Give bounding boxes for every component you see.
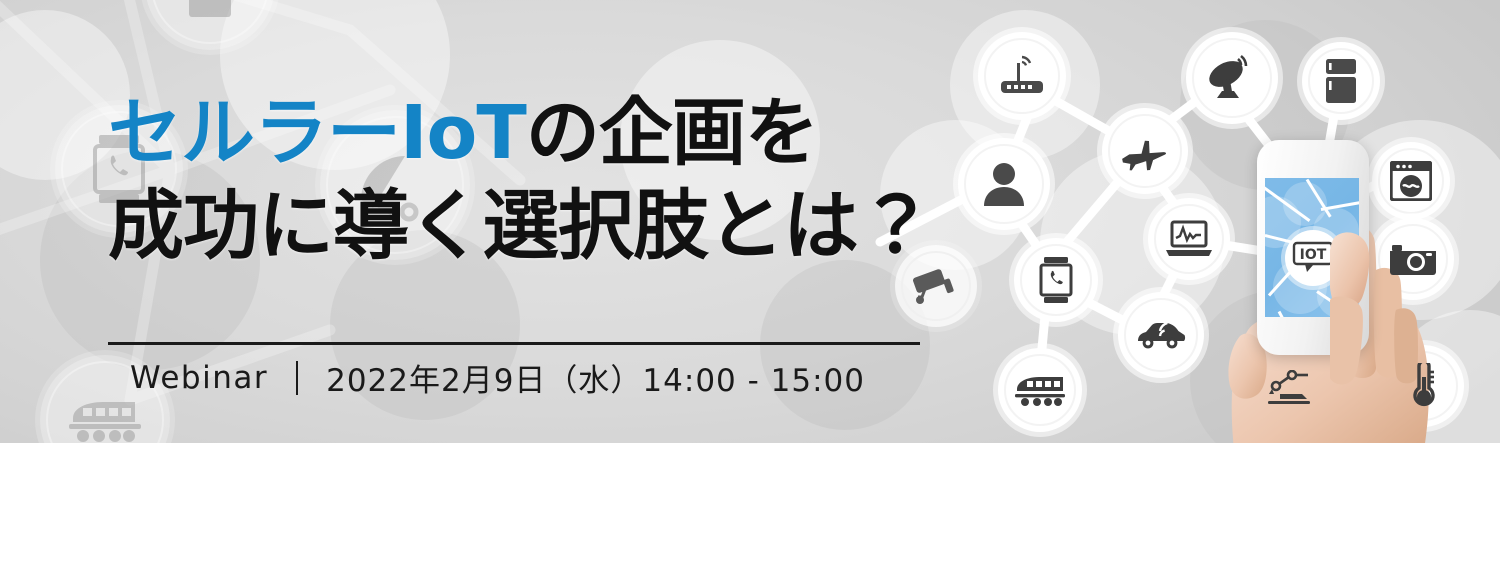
node-robot-arm [1249, 348, 1329, 428]
title-rest: の企画を [526, 90, 818, 176]
node-refrigerator [1302, 42, 1380, 120]
node-camera [1372, 218, 1454, 300]
meta-divider [296, 361, 298, 395]
title-divider-rule [108, 342, 920, 345]
title-accent: セルラーIoT [108, 90, 526, 176]
node-refrigerator-ghost [145, 0, 275, 50]
node-person [958, 138, 1050, 230]
washing-machine-icon [1390, 161, 1432, 201]
refrigerator-icon [185, 0, 235, 17]
wifi-router-icon [999, 54, 1045, 98]
person-icon [983, 162, 1025, 206]
smartwatch-phone-icon [1039, 257, 1073, 303]
node-washing-machine [1372, 142, 1450, 220]
satellite-dish-icon [1207, 54, 1257, 102]
node-thermometer [1382, 345, 1464, 427]
phone-screen: IOT [1265, 178, 1359, 317]
webinar-label: Webinar [130, 360, 268, 396]
title-line-1: セルラーIoTの企画を [108, 92, 938, 175]
node-satellite-dish [1186, 32, 1278, 124]
node-smartwatch-phone [1014, 238, 1098, 322]
thermometer-icon [1409, 363, 1437, 409]
iot-badge: IOT [1285, 230, 1341, 286]
laptop-chart-icon [1166, 220, 1212, 258]
node-train [998, 348, 1082, 432]
node-airplane [1102, 108, 1188, 194]
connected-car-icon [1136, 320, 1186, 350]
sponsor-logo-band: IIJ Internet Initiative Japan QUECTEL 加賀… [0, 443, 1500, 570]
node-laptop-chart [1148, 198, 1230, 280]
webinar-banner: IOT セルラーIoTの企画を 成功に導く選択肢とは？ [0, 0, 1500, 570]
security-camera-icon [912, 265, 960, 307]
robot-arm-icon [1266, 370, 1312, 406]
train-icon [69, 396, 141, 443]
camera-icon [1390, 242, 1436, 276]
node-connected-car [1118, 292, 1204, 378]
refrigerator-icon [1324, 59, 1358, 103]
title-line-2: 成功に導く選択肢とは？ [108, 183, 938, 268]
webinar-meta: Webinar 2022年2月9日（水）14:00 - 15:00 [130, 355, 865, 400]
webinar-date: 2022年2月9日（水）14:00 - 15:00 [326, 355, 865, 400]
train-icon [1015, 373, 1065, 407]
iot-speech-bubble-icon: IOT [1291, 241, 1335, 275]
smartphone: IOT [1257, 140, 1369, 355]
node-wifi-router [978, 32, 1066, 120]
hero-area: IOT セルラーIoTの企画を 成功に導く選択肢とは？ [0, 0, 1500, 443]
iot-label: IOT [1300, 247, 1327, 263]
title-block: セルラーIoTの企画を 成功に導く選択肢とは？ [108, 92, 938, 268]
